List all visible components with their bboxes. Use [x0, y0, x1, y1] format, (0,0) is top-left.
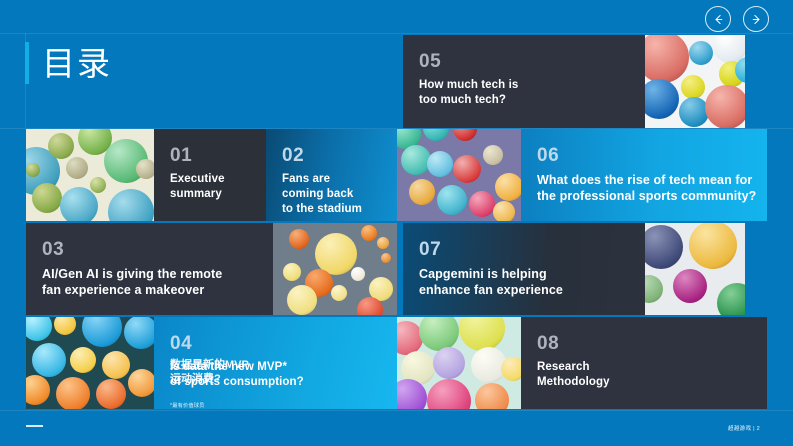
toc-item-number: 06 — [537, 146, 757, 166]
decorative-sphere — [689, 41, 713, 65]
bg-line-h-top — [0, 33, 793, 34]
decorative-sphere — [469, 191, 495, 217]
decorative-sphere — [26, 163, 40, 177]
decorative-sphere — [70, 347, 96, 373]
photo-tile-07 — [645, 223, 745, 315]
decorative-sphere — [283, 263, 301, 281]
title-text: 目录 — [42, 47, 112, 80]
decorative-sphere — [60, 187, 98, 221]
decorative-sphere — [673, 269, 707, 303]
decorative-sphere — [96, 379, 126, 409]
decorative-sphere — [287, 285, 317, 315]
decorative-sphere — [495, 173, 521, 201]
toc-item-06[interactable]: 06 What does the rise of tech mean for t… — [521, 129, 767, 221]
decorative-sphere — [128, 369, 154, 397]
decorative-sphere — [351, 267, 365, 281]
decorative-sphere — [681, 75, 705, 99]
decorative-sphere — [501, 357, 521, 381]
toc-item-07[interactable]: 07 Capgemini is helping enhance fan expe… — [403, 223, 645, 315]
toc-item-number: 03 — [42, 240, 263, 260]
arrow-left-icon — [712, 13, 725, 26]
toc-item-number: 04 — [170, 334, 387, 354]
decorative-sphere — [32, 343, 66, 377]
prev-slide-button[interactable] — [705, 6, 731, 32]
toc-item-label-cn: 数据是新的MVP 运动消费? — [170, 358, 249, 387]
photo-tile-03 — [273, 223, 397, 315]
decorative-sphere — [409, 179, 435, 205]
decorative-sphere — [136, 159, 154, 179]
decorative-sphere — [82, 317, 122, 347]
toc-item-number: 05 — [419, 52, 635, 72]
toc-item-number: 02 — [282, 146, 387, 166]
toc-item-01[interactable]: 01 Executive summary — [154, 129, 266, 221]
toc-item-label: Executive summary — [170, 172, 256, 202]
decorative-sphere — [453, 155, 481, 183]
photo-tile-01 — [26, 129, 154, 221]
decorative-sphere — [124, 317, 154, 349]
decorative-sphere — [689, 223, 737, 269]
decorative-sphere — [437, 185, 467, 215]
decorative-sphere — [705, 85, 745, 128]
footer-dash — [26, 425, 43, 427]
decorative-sphere — [645, 79, 679, 119]
decorative-sphere — [377, 237, 389, 249]
photo-tile-05 — [645, 35, 745, 128]
decorative-sphere — [459, 317, 505, 351]
toc-item-number: 08 — [537, 334, 757, 354]
title-accent-bar — [25, 42, 29, 84]
toc-item-08[interactable]: 08 Research Methodology — [521, 317, 767, 409]
toc-item-02[interactable]: 02 Fans are coming back to the stadium — [266, 129, 397, 221]
decorative-sphere — [645, 225, 683, 269]
toc-item-number: 07 — [419, 240, 635, 260]
toc-item-04[interactable]: 04 Is data the new MVP* of sports consum… — [154, 317, 397, 409]
decorative-sphere — [66, 157, 88, 179]
decorative-sphere — [289, 229, 309, 249]
toc-item-footnote: *最有价值球员 — [170, 402, 387, 409]
page-title: 目录 — [25, 42, 112, 84]
toc-item-label: AI/Gen AI is giving the remote fan exper… — [42, 266, 263, 299]
decorative-sphere — [90, 177, 106, 193]
decorative-sphere — [331, 285, 347, 301]
decorative-sphere — [645, 35, 689, 83]
decorative-sphere — [361, 225, 377, 241]
decorative-sphere — [423, 129, 449, 141]
decorative-sphere — [56, 377, 90, 409]
arrow-right-icon — [750, 13, 763, 26]
toc-item-03[interactable]: 03 AI/Gen AI is giving the remote fan ex… — [26, 223, 273, 315]
toc-item-label: What does the rise of tech mean for the … — [537, 172, 757, 205]
photo-tile-02 — [397, 129, 521, 221]
decorative-sphere — [483, 145, 503, 165]
slide-navigation — [705, 6, 769, 32]
toc-item-label: Research Methodology — [537, 360, 757, 390]
toc-item-05[interactable]: 05 How much tech is too much tech? — [403, 35, 645, 128]
decorative-sphere — [493, 201, 515, 221]
photo-tile-04 — [26, 317, 154, 409]
decorative-sphere — [717, 283, 745, 315]
decorative-sphere — [108, 189, 154, 221]
bg-line-h-bot — [0, 410, 793, 411]
toc-item-label: How much tech is too much tech? — [419, 78, 635, 108]
decorative-sphere — [433, 347, 465, 379]
toc-item-label: Capgemini is helping enhance fan experie… — [419, 266, 635, 299]
next-slide-button[interactable] — [743, 6, 769, 32]
decorative-sphere — [102, 351, 130, 379]
presentation-slide: 目录 — [0, 0, 793, 446]
decorative-sphere — [32, 183, 62, 213]
decorative-sphere — [427, 151, 453, 177]
toc-item-label: Fans are coming back to the stadium — [282, 172, 387, 218]
decorative-sphere — [54, 317, 76, 335]
decorative-sphere — [475, 383, 509, 409]
decorative-sphere — [26, 375, 50, 405]
decorative-sphere — [645, 275, 663, 303]
decorative-sphere — [381, 253, 391, 263]
decorative-sphere — [419, 317, 459, 351]
decorative-sphere — [26, 317, 52, 341]
decorative-sphere — [48, 133, 74, 159]
decorative-sphere — [427, 379, 471, 409]
toc-item-number: 01 — [170, 146, 256, 166]
toc-item-label-overlap: Is data the new MVP* of sports consumpti… — [170, 360, 387, 390]
photo-tile-08 — [397, 317, 521, 409]
footer-page-label: 超越游戏 | 2 — [728, 424, 760, 432]
decorative-sphere — [453, 129, 477, 141]
